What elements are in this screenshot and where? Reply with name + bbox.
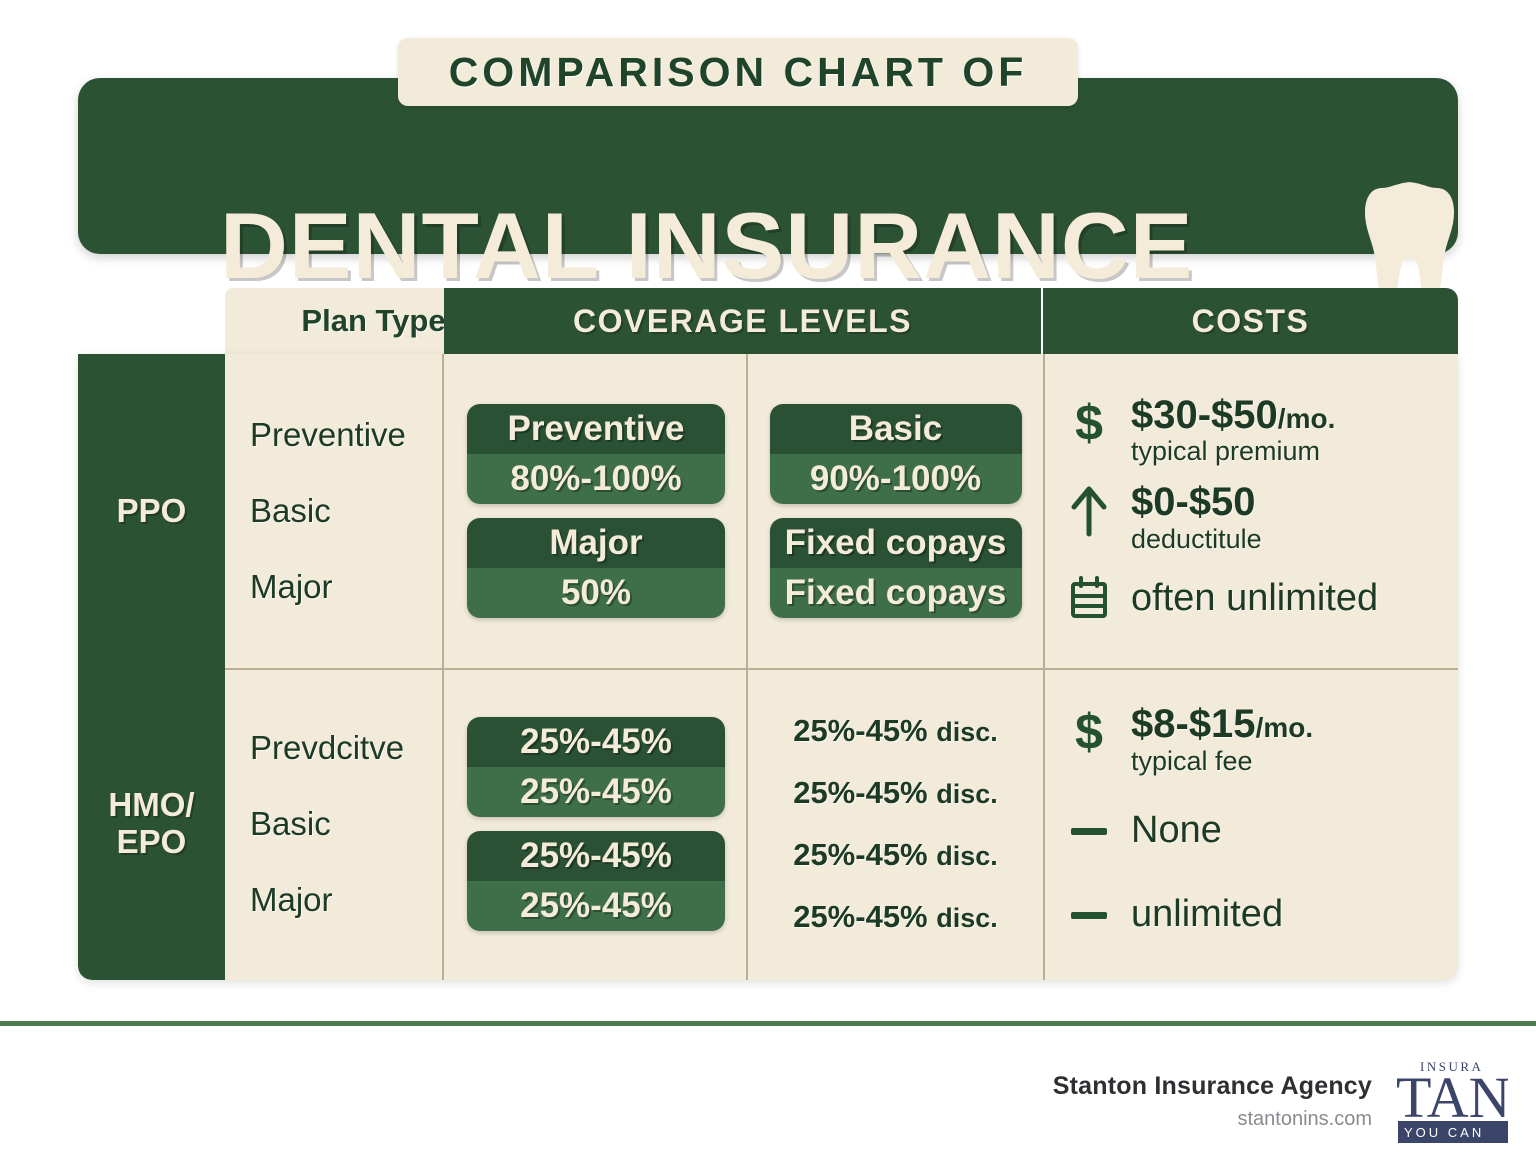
coverage-pill-label: Preventive xyxy=(467,404,725,454)
coverage-text-row: 25%-45% disc. xyxy=(793,837,998,873)
header-costs-label: COSTS xyxy=(1192,303,1310,340)
level-label-basic: Basic xyxy=(250,805,442,843)
cost-value-deductible: None xyxy=(1131,809,1222,852)
calendar-icon xyxy=(1063,569,1115,627)
coverage-pill-value-text: 25%-45% xyxy=(520,772,672,811)
levels-cell-ppo: Preventive Basic Major xyxy=(225,354,444,668)
cost-caption-premium: typical premium xyxy=(1131,438,1335,466)
coverage-col-b-ppo: Basic 90%-100% Fixed copays Fixed copays xyxy=(748,354,1045,668)
plan-type-line-1: HMO/ xyxy=(108,786,194,823)
coverage-pill-hmo-2: 25%-45% 25%-45% xyxy=(467,831,725,931)
cost-value-maximum: unlimited xyxy=(1131,893,1283,936)
cost-caption-deductible: deductitule xyxy=(1131,526,1262,554)
header-coverage-levels: COVERAGE LEVELS xyxy=(444,288,1041,354)
agency-name: Stanton Insurance Agency xyxy=(1053,1072,1372,1101)
cost-item-maximum: often unlimited xyxy=(1063,569,1458,627)
cost-caption-fee: typical fee xyxy=(1131,748,1313,776)
coverage-suffix: disc. xyxy=(936,717,998,747)
cost-item-maximum: unlimited xyxy=(1063,886,1458,944)
plan-type-line-2: EPO xyxy=(117,823,187,860)
coverage-pill-value: 25%-45% xyxy=(467,881,725,931)
coverage-suffix: disc. xyxy=(936,903,998,933)
coverage-pill-label-text: 25%-45% xyxy=(520,722,672,761)
coverage-suffix: disc. xyxy=(936,779,998,809)
level-label-major: Major xyxy=(250,568,442,606)
costs-cell-hmo: $ $8-$15/mo. typical fee None xyxy=(1045,668,1458,980)
coverage-text-row: 25%-45% disc. xyxy=(793,899,998,935)
coverage-pill-value-text: 90%-100% xyxy=(810,459,981,498)
coverage-pill-label: 25%-45% xyxy=(467,717,725,767)
table-row: PPO Preventive Basic Major Preventive 80… xyxy=(78,354,1458,668)
logo-mid-text: TAN xyxy=(1396,1065,1508,1130)
cost-unit: /mo. xyxy=(1278,403,1336,434)
coverage-pill-label-text: Fixed copays xyxy=(785,523,1007,562)
coverage-pill-value-text: 25%-45% xyxy=(520,886,672,925)
coverage-percent: 25%-45% xyxy=(793,899,927,934)
coverage-pill-value-text: 50% xyxy=(561,573,631,612)
footer: Stanton Insurance Agency stantonins.com … xyxy=(1053,1055,1508,1147)
footer-text-block: Stanton Insurance Agency stantonins.com xyxy=(1053,1072,1372,1131)
coverage-pill-hmo-1: 25%-45% 25%-45% xyxy=(467,717,725,817)
levels-cell-hmo: Prevdcitve Basic Major xyxy=(225,668,444,980)
svg-text:$: $ xyxy=(1075,397,1103,451)
coverage-col-b-hmo: 25%-45% disc. 25%-45% disc. 25%-45% disc… xyxy=(748,668,1045,980)
costs-cell-ppo: $ $30-$50/mo. typical premium xyxy=(1045,354,1458,668)
agency-url[interactable]: stantonins.com xyxy=(1237,1108,1372,1131)
coverage-pill-value-text: Fixed copays xyxy=(785,573,1007,612)
cost-value-premium: $30-$50/mo. xyxy=(1131,395,1335,436)
coverage-pill-value: Fixed copays xyxy=(770,568,1022,618)
level-label-preventive: Preventive xyxy=(250,416,442,454)
cost-item-deductible: $0-$50 deductitule xyxy=(1063,482,1458,553)
coverage-pill-value: 90%-100% xyxy=(770,454,1022,504)
agency-logo: INSURA TAN YOU CAN xyxy=(1390,1055,1508,1147)
coverage-pill-preventive: Preventive 80%-100% xyxy=(467,404,725,504)
level-label-basic: Basic xyxy=(250,492,442,530)
cost-value-deductible: $0-$50 xyxy=(1131,482,1262,523)
cost-item-deductible: None xyxy=(1063,802,1458,860)
coverage-percent: 25%-45% xyxy=(793,713,927,748)
cost-text-fee: $8-$15/mo. typical fee xyxy=(1131,704,1313,775)
dollar-icon: $ xyxy=(1063,704,1115,762)
coverage-pill-label: Basic xyxy=(770,404,1022,454)
coverage-percent: 25%-45% xyxy=(793,775,927,810)
cost-value-maximum: often unlimited xyxy=(1131,577,1378,620)
eyebrow-plate: COMPARISON CHART OF xyxy=(398,38,1078,106)
coverage-text-row: 25%-45% disc. xyxy=(793,775,998,811)
cost-text-deductible: $0-$50 deductitule xyxy=(1131,482,1262,553)
coverage-col-a-hmo: 25%-45% 25%-45% 25%-45% 25%-45% xyxy=(446,668,748,980)
cost-unit: /mo. xyxy=(1256,712,1314,743)
coverage-pill-major: Major 50% xyxy=(467,518,725,618)
header-costs: COSTS xyxy=(1043,288,1458,354)
coverage-pill-label-text: 25%-45% xyxy=(520,836,672,875)
coverage-pill-value: 80%-100% xyxy=(467,454,725,504)
cost-value-fee: $8-$15/mo. xyxy=(1131,704,1313,745)
cost-item-premium: $ $30-$50/mo. typical premium xyxy=(1063,395,1458,466)
coverage-pill-copays: Fixed copays Fixed copays xyxy=(770,518,1022,618)
level-label-major: Major xyxy=(250,881,442,919)
coverage-pill-label: 25%-45% xyxy=(467,831,725,881)
level-label-preventive: Prevdcitve xyxy=(250,729,442,767)
cost-item-fee: $ $8-$15/mo. typical fee xyxy=(1063,704,1458,775)
footer-divider xyxy=(0,1021,1536,1026)
dash-icon xyxy=(1063,886,1115,944)
coverage-pill-value: 25%-45% xyxy=(467,767,725,817)
table-body: PPO Preventive Basic Major Preventive 80… xyxy=(78,354,1458,980)
logo-bottom-text: YOU CAN xyxy=(1404,1125,1484,1140)
cost-amount: $8-$15 xyxy=(1131,702,1256,746)
coverage-suffix: disc. xyxy=(936,841,998,871)
coverage-pill-label-text: Preventive xyxy=(507,409,684,448)
coverage-pill-value-text: 80%-100% xyxy=(510,459,681,498)
svg-text:$: $ xyxy=(1075,706,1103,760)
cost-text-premium: $30-$50/mo. typical premium xyxy=(1131,395,1335,466)
table-row: HMO/EPO Prevdcitve Basic Major 25%-45% 2… xyxy=(78,668,1458,980)
coverage-percent: 25%-45% xyxy=(793,837,927,872)
coverage-text-row: 25%-45% disc. xyxy=(793,713,998,749)
table-header-row: Plan Type COVERAGE LEVELS COSTS xyxy=(78,288,1458,354)
comparison-table: Plan Type COVERAGE LEVELS COSTS PPO Prev… xyxy=(78,288,1458,980)
coverage-pill-label-text: Basic xyxy=(849,409,942,448)
eyebrow-label: COMPARISON CHART OF xyxy=(449,52,1028,93)
plan-type-cell-ppo: PPO xyxy=(78,354,225,668)
up-arrow-icon xyxy=(1063,482,1115,540)
header-plan-type-label: Plan Type xyxy=(301,303,445,339)
plan-type-label: HMO/EPO xyxy=(108,787,194,861)
coverage-pill-basic: Basic 90%-100% xyxy=(770,404,1022,504)
coverage-pill-label-text: Major xyxy=(549,523,642,562)
coverage-pill-label: Fixed copays xyxy=(770,518,1022,568)
cost-amount: $0-$50 xyxy=(1131,480,1256,524)
dash-icon xyxy=(1063,802,1115,860)
page-title: DENTAL INSURANCE xyxy=(220,191,1340,301)
coverage-pill-label: Major xyxy=(467,518,725,568)
plan-type-label: PPO xyxy=(117,493,187,530)
header-coverage-levels-label: COVERAGE LEVELS xyxy=(573,303,912,340)
dollar-icon: $ xyxy=(1063,395,1115,453)
coverage-col-a-ppo: Preventive 80%-100% Major 50% xyxy=(446,354,748,668)
coverage-pill-value: 50% xyxy=(467,568,725,618)
cost-amount: $30-$50 xyxy=(1131,393,1278,437)
plan-type-cell-hmo: HMO/EPO xyxy=(78,668,225,980)
